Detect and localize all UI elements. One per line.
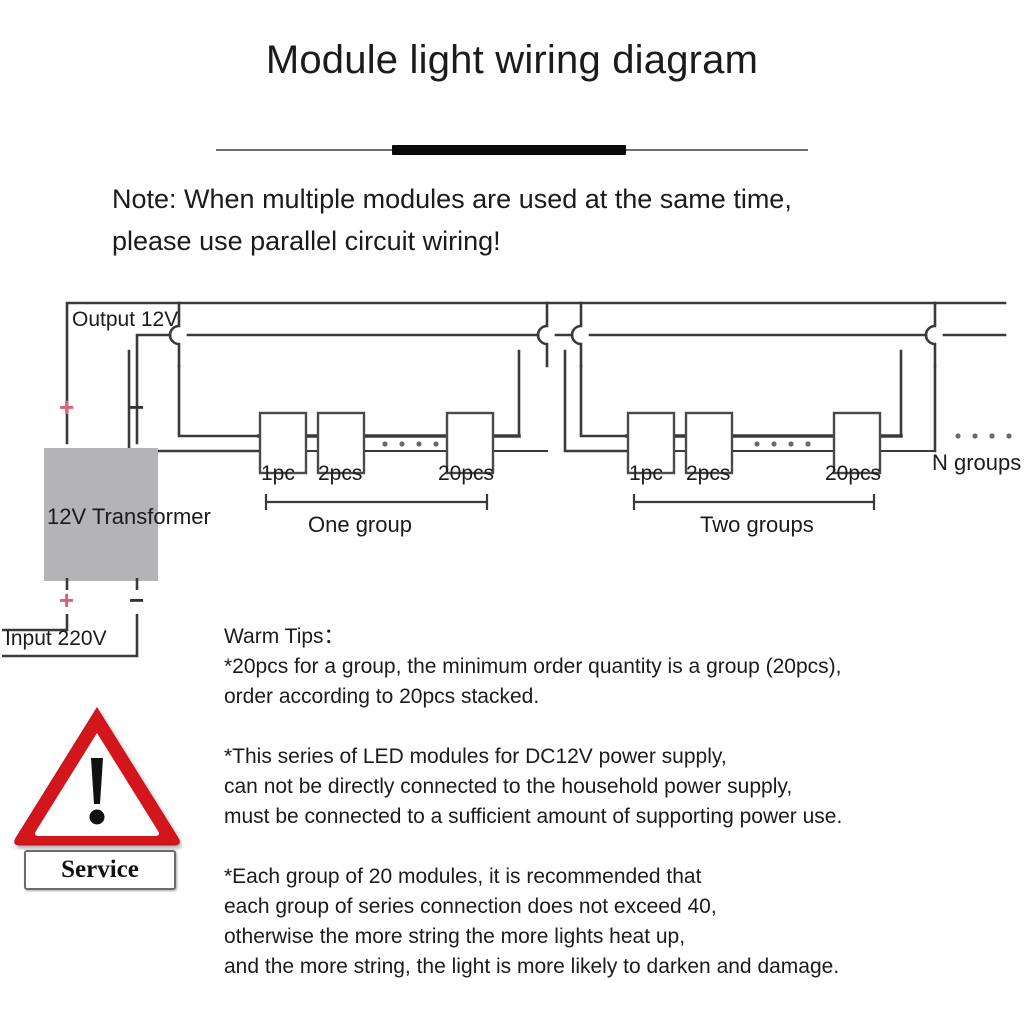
- n-groups-label: N groups: [932, 450, 1021, 476]
- series-continuation-dots-group1: [382, 441, 438, 446]
- wire-hop-arc-3: [572, 303, 581, 366]
- service-warning-sign: Service: [12, 700, 182, 890]
- group-bracket-two: [634, 494, 874, 510]
- tips-b2-l3: must be connected to a sufficient amount…: [224, 802, 924, 832]
- note-line-1: Note: When multiple modules are used at …: [112, 178, 992, 220]
- module-label-group2-20pcs: 20pcs: [825, 462, 881, 486]
- module-label-group1-1pc: 1pc: [261, 462, 295, 486]
- tips-b2-l2: can not be directly connected to the hou…: [224, 772, 924, 802]
- bracket-label-two-groups: Two groups: [700, 512, 814, 538]
- output-voltage-label: Output 12V: [72, 308, 178, 332]
- tips-b3-l4: and the more string, the light is more l…: [224, 952, 924, 982]
- transformer-label: 12V Transformer: [47, 504, 287, 530]
- module-label-group2-2pcs: 2pcs: [686, 462, 730, 486]
- group-bracket-one: [266, 494, 487, 510]
- warning-triangle-icon: [12, 700, 182, 850]
- wiring-diagram-page: Module light wiring diagram Note: When m…: [0, 0, 1024, 1024]
- module-label-group1-2pcs: 2pcs: [318, 462, 362, 486]
- group2-positive-drop: [581, 366, 627, 436]
- tips-b3-l1: *Each group of 20 modules, it is recomme…: [224, 862, 924, 892]
- tips-b3-l3: otherwise the more string the more light…: [224, 922, 924, 952]
- tips-spacer-2: [224, 832, 924, 862]
- module-label-group1-20pcs: 20pcs: [438, 462, 494, 486]
- title-divider: [0, 140, 1024, 162]
- output-plus-sign: +: [59, 392, 74, 423]
- page-title: Module light wiring diagram: [0, 38, 1024, 83]
- n-groups-dots: [955, 433, 1011, 438]
- input-voltage-label: Input 220V: [5, 627, 107, 651]
- service-label-box: Service: [24, 850, 176, 890]
- series-continuation-dots-group2: [754, 441, 810, 446]
- tips-b1-l1: *20pcs for a group, the minimum order qu…: [224, 652, 924, 682]
- module-label-group2-1pc: 1pc: [629, 462, 663, 486]
- bracket-label-one-group: One group: [308, 512, 412, 538]
- wire-hop-arc-4: [926, 303, 935, 366]
- warm-tips-block: Warm Tips： *20pcs for a group, the minim…: [224, 622, 924, 982]
- tips-b2-l1: *This series of LED modules for DC12V po…: [224, 742, 924, 772]
- wire-hop-arc-2: [538, 303, 547, 366]
- note-line-2: please use parallel circuit wiring!: [112, 220, 992, 262]
- group1-positive-drop: [179, 366, 259, 436]
- tips-b1-l2: order according to 20pcs stacked.: [224, 682, 924, 712]
- divider-thick-segment: [392, 145, 626, 155]
- tips-b3-l2: each group of series connection does not…: [224, 892, 924, 922]
- output-minus-sign: −: [129, 392, 144, 423]
- service-label: Service: [61, 856, 139, 884]
- note-text: Note: When multiple modules are used at …: [112, 178, 992, 262]
- tips-heading: Warm Tips：: [224, 622, 924, 652]
- negative-bus-wire-left: [137, 335, 170, 443]
- tips-spacer-1: [224, 712, 924, 742]
